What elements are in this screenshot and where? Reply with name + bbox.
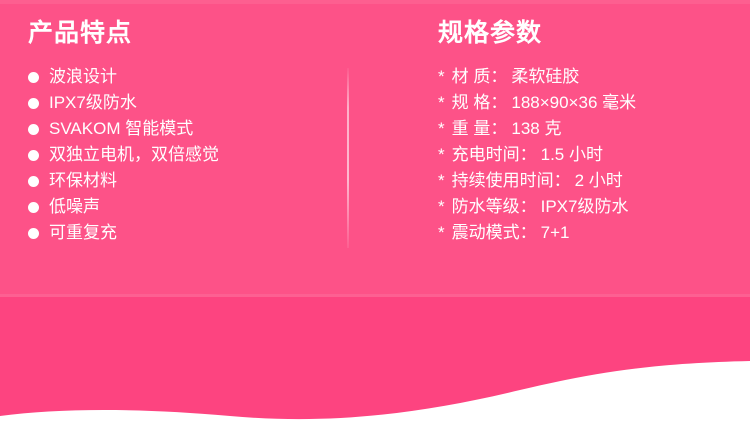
list-item: 可重复充 (28, 220, 328, 246)
feature-label: 低噪声 (49, 194, 100, 220)
features-heading: 产品特点 (28, 18, 328, 48)
list-item: 波浪设计 (28, 64, 328, 90)
asterisk-icon: * (438, 220, 445, 246)
list-item: * 充电时间： 1.5 小时 (438, 142, 738, 168)
content-area: 产品特点 波浪设计 IPX7级防水 SVAKOM 智能模式 双独立电机，双倍感觉 (0, 0, 750, 296)
product-info-banner: 产品特点 波浪设计 IPX7级防水 SVAKOM 智能模式 双独立电机，双倍感觉 (0, 0, 750, 427)
asterisk-icon: * (438, 116, 445, 142)
features-column: 产品特点 波浪设计 IPX7级防水 SVAKOM 智能模式 双独立电机，双倍感觉 (28, 18, 328, 246)
asterisk-icon: * (438, 142, 445, 168)
asterisk-icon: * (438, 64, 445, 90)
asterisk-icon: * (438, 194, 445, 220)
specs-list: * 材 质： 柔软硅胶 * 规 格： 188×90×36 毫米 * 重 量： 1… (438, 64, 738, 246)
spec-label: 材 质： (452, 64, 508, 90)
feature-label: 双独立电机，双倍感觉 (49, 142, 219, 168)
list-item: * 防水等级： IPX7级防水 (438, 194, 738, 220)
spec-value: 7+1 (541, 220, 570, 246)
features-list: 波浪设计 IPX7级防水 SVAKOM 智能模式 双独立电机，双倍感觉 环保材料 (28, 64, 328, 246)
list-item: * 持续使用时间： 2 小时 (438, 168, 738, 194)
list-item: SVAKOM 智能模式 (28, 116, 328, 142)
list-item: * 材 质： 柔软硅胶 (438, 64, 738, 90)
spec-label: 持续使用时间： (452, 168, 571, 194)
asterisk-icon: * (438, 90, 445, 116)
spec-value: 2 小时 (575, 168, 623, 194)
bullet-dot-icon (28, 176, 39, 187)
bullet-dot-icon (28, 124, 39, 135)
column-divider (347, 68, 349, 248)
list-item: 双独立电机，双倍感觉 (28, 142, 328, 168)
bullet-dot-icon (28, 202, 39, 213)
spec-label: 防水等级： (452, 194, 537, 220)
feature-label: 环保材料 (49, 168, 117, 194)
spec-label: 震动模式： (452, 220, 537, 246)
spec-label: 规 格： (452, 90, 508, 116)
spec-value: 柔软硅胶 (511, 64, 579, 90)
spec-value: 138 克 (511, 116, 561, 142)
bullet-dot-icon (28, 98, 39, 109)
feature-label: 可重复充 (49, 220, 117, 246)
feature-label: SVAKOM 智能模式 (49, 116, 193, 142)
wave-divider-shape (0, 330, 750, 427)
list-item: * 重 量： 138 克 (438, 116, 738, 142)
spec-label: 充电时间： (452, 142, 537, 168)
specs-heading: 规格参数 (438, 18, 738, 48)
bullet-dot-icon (28, 228, 39, 239)
asterisk-icon: * (438, 168, 445, 194)
feature-label: 波浪设计 (49, 64, 117, 90)
spec-value: 188×90×36 毫米 (511, 90, 636, 116)
feature-label: IPX7级防水 (49, 90, 137, 116)
spec-label: 重 量： (452, 116, 508, 142)
bullet-dot-icon (28, 150, 39, 161)
specs-column: 规格参数 * 材 质： 柔软硅胶 * 规 格： 188×90×36 毫米 * 重… (438, 18, 738, 246)
list-item: IPX7级防水 (28, 90, 328, 116)
list-item: * 震动模式： 7+1 (438, 220, 738, 246)
list-item: 环保材料 (28, 168, 328, 194)
bullet-dot-icon (28, 72, 39, 83)
spec-value: IPX7级防水 (541, 194, 629, 220)
list-item: 低噪声 (28, 194, 328, 220)
list-item: * 规 格： 188×90×36 毫米 (438, 90, 738, 116)
spec-value: 1.5 小时 (541, 142, 603, 168)
